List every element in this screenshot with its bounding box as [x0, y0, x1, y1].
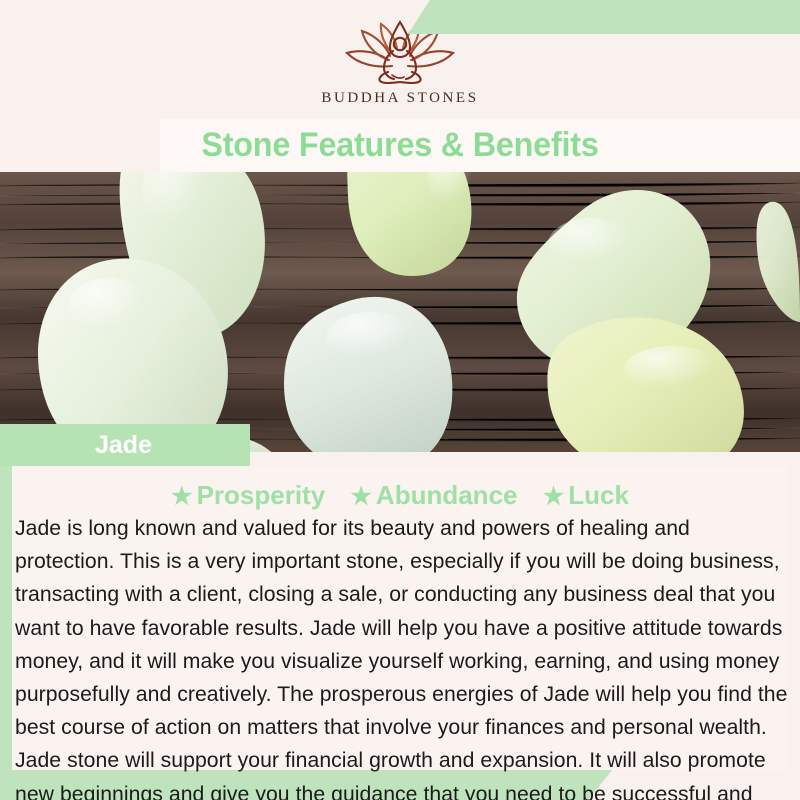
star-icon: ★ [350, 483, 372, 510]
stone-description: Jade is long known and valued for its be… [15, 512, 793, 800]
benefit-label: Prosperity [197, 480, 326, 510]
benefit-label: Luck [568, 480, 629, 510]
benefit-label: Abundance [376, 480, 518, 510]
benefit-item-abundance: ★Abundance [350, 480, 517, 510]
star-icon: ★ [171, 483, 193, 510]
jade-stones-illustration [0, 172, 800, 452]
star-icon: ★ [543, 483, 565, 510]
stone-info-poster: BUDDHA STONES Stone Features & Benefits [0, 0, 800, 800]
stone-name: Jade [0, 424, 250, 466]
benefits-row: ★Prosperity ★Abundance ★Luck [12, 480, 788, 512]
jade-stones-photo [0, 172, 800, 452]
brand-name: BUDDHA STONES [0, 90, 800, 107]
benefit-item-luck: ★Luck [543, 480, 629, 510]
page-title: Stone Features & Benefits [172, 121, 628, 169]
benefit-item-prosperity: ★Prosperity [171, 480, 325, 510]
